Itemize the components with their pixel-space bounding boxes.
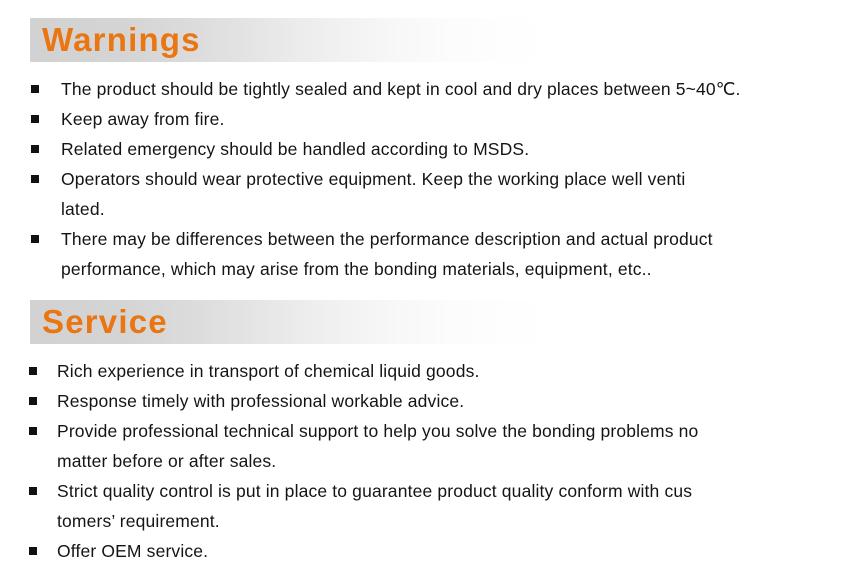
square-bullet-icon [31,85,39,93]
list-item: Operators should wear protective equipme… [30,164,830,224]
warnings-bullet-list: The product should be tightly sealed and… [30,74,830,284]
square-bullet-icon [31,235,39,243]
list-item-text: Provide professional technical support t… [57,416,828,476]
list-item: Provide professional technical support t… [28,416,828,476]
square-bullet-icon [31,145,39,153]
list-item-text: Keep away from fire. [61,104,830,134]
list-item-text: The product should be tightly sealed and… [61,74,830,104]
square-bullet-icon [29,397,37,405]
list-item: The product should be tightly sealed and… [30,74,830,104]
list-item: Related emergency should be handled acco… [30,134,830,164]
square-bullet-icon [29,427,37,435]
square-bullet-icon [29,367,37,375]
document-page: Warnings The product should be tightly s… [0,0,850,576]
section-header-service: Service [0,300,850,344]
section-header-warnings: Warnings [0,18,850,62]
list-item-text: Operators should wear protective equipme… [61,164,830,224]
square-bullet-icon [29,487,37,495]
list-item-text: Rich experience in transport of chemical… [57,356,828,386]
list-item: Rich experience in transport of chemical… [28,356,828,386]
list-item: Keep away from fire. [30,104,830,134]
list-item-text: Response timely with professional workab… [57,386,828,416]
page-title-warnings: Warnings [42,18,201,62]
list-item-text: There may be differences between the per… [61,224,830,284]
square-bullet-icon [29,547,37,555]
list-item: There may be differences between the per… [30,224,830,284]
page-title-service: Service [42,300,168,344]
list-item: Offer OEM service. [28,536,828,566]
list-item-text: Offer OEM service. [57,536,828,566]
square-bullet-icon [31,115,39,123]
list-item: Strict quality control is put in place t… [28,476,828,536]
square-bullet-icon [31,175,39,183]
service-bullet-list: Rich experience in transport of chemical… [28,356,828,566]
list-item-text: Strict quality control is put in place t… [57,476,828,536]
list-item: Response timely with professional workab… [28,386,828,416]
list-item-text: Related emergency should be handled acco… [61,134,830,164]
